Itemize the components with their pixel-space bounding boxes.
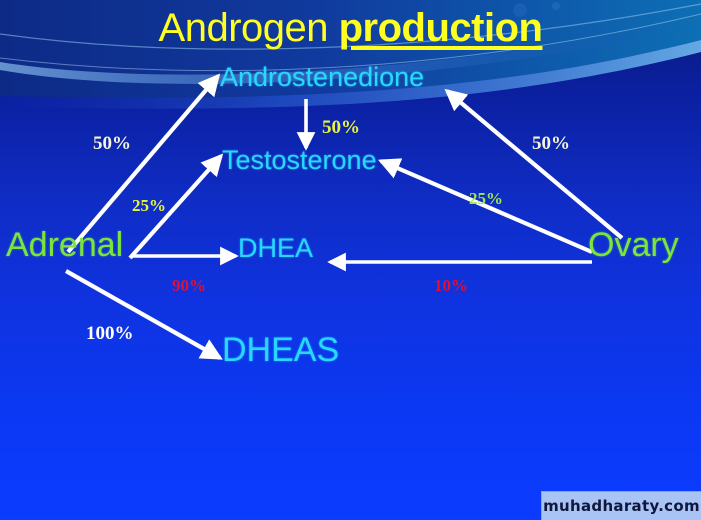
slide-canvas: Androgen production Androstenedione Test… [0, 0, 701, 520]
edge-label-ovary-dhea: 10% [434, 277, 468, 294]
title-emphasis: production [339, 6, 543, 50]
edge-label-adrenal-dheas: 100% [86, 324, 134, 343]
node-ovary: Ovary [588, 228, 679, 262]
edge-label-adrenal-testosterone: 25% [132, 197, 166, 214]
edge-label-ovary-androstenedione: 50% [532, 134, 570, 153]
node-dhea: DHEA [238, 235, 313, 262]
arrow-ovary-androstenedione [447, 91, 622, 238]
edge-label-ovary-testosterone: 25% [469, 190, 503, 207]
watermark: muhadharaty.com [541, 491, 701, 520]
edge-label-androstenedione-testosterone: 50% [322, 118, 360, 137]
node-androstenedione: Androstenedione [220, 64, 424, 91]
node-dheas: DHEAS [222, 333, 339, 367]
edge-label-adrenal-dhea: 90% [172, 277, 206, 294]
node-testosterone: Testosterone [222, 147, 377, 174]
title-plain: Androgen [159, 6, 339, 50]
node-adrenal: Adrenal [6, 228, 123, 262]
page-title: Androgen production [0, 8, 701, 48]
edge-label-adrenal-androstenedione: 50% [93, 134, 131, 153]
